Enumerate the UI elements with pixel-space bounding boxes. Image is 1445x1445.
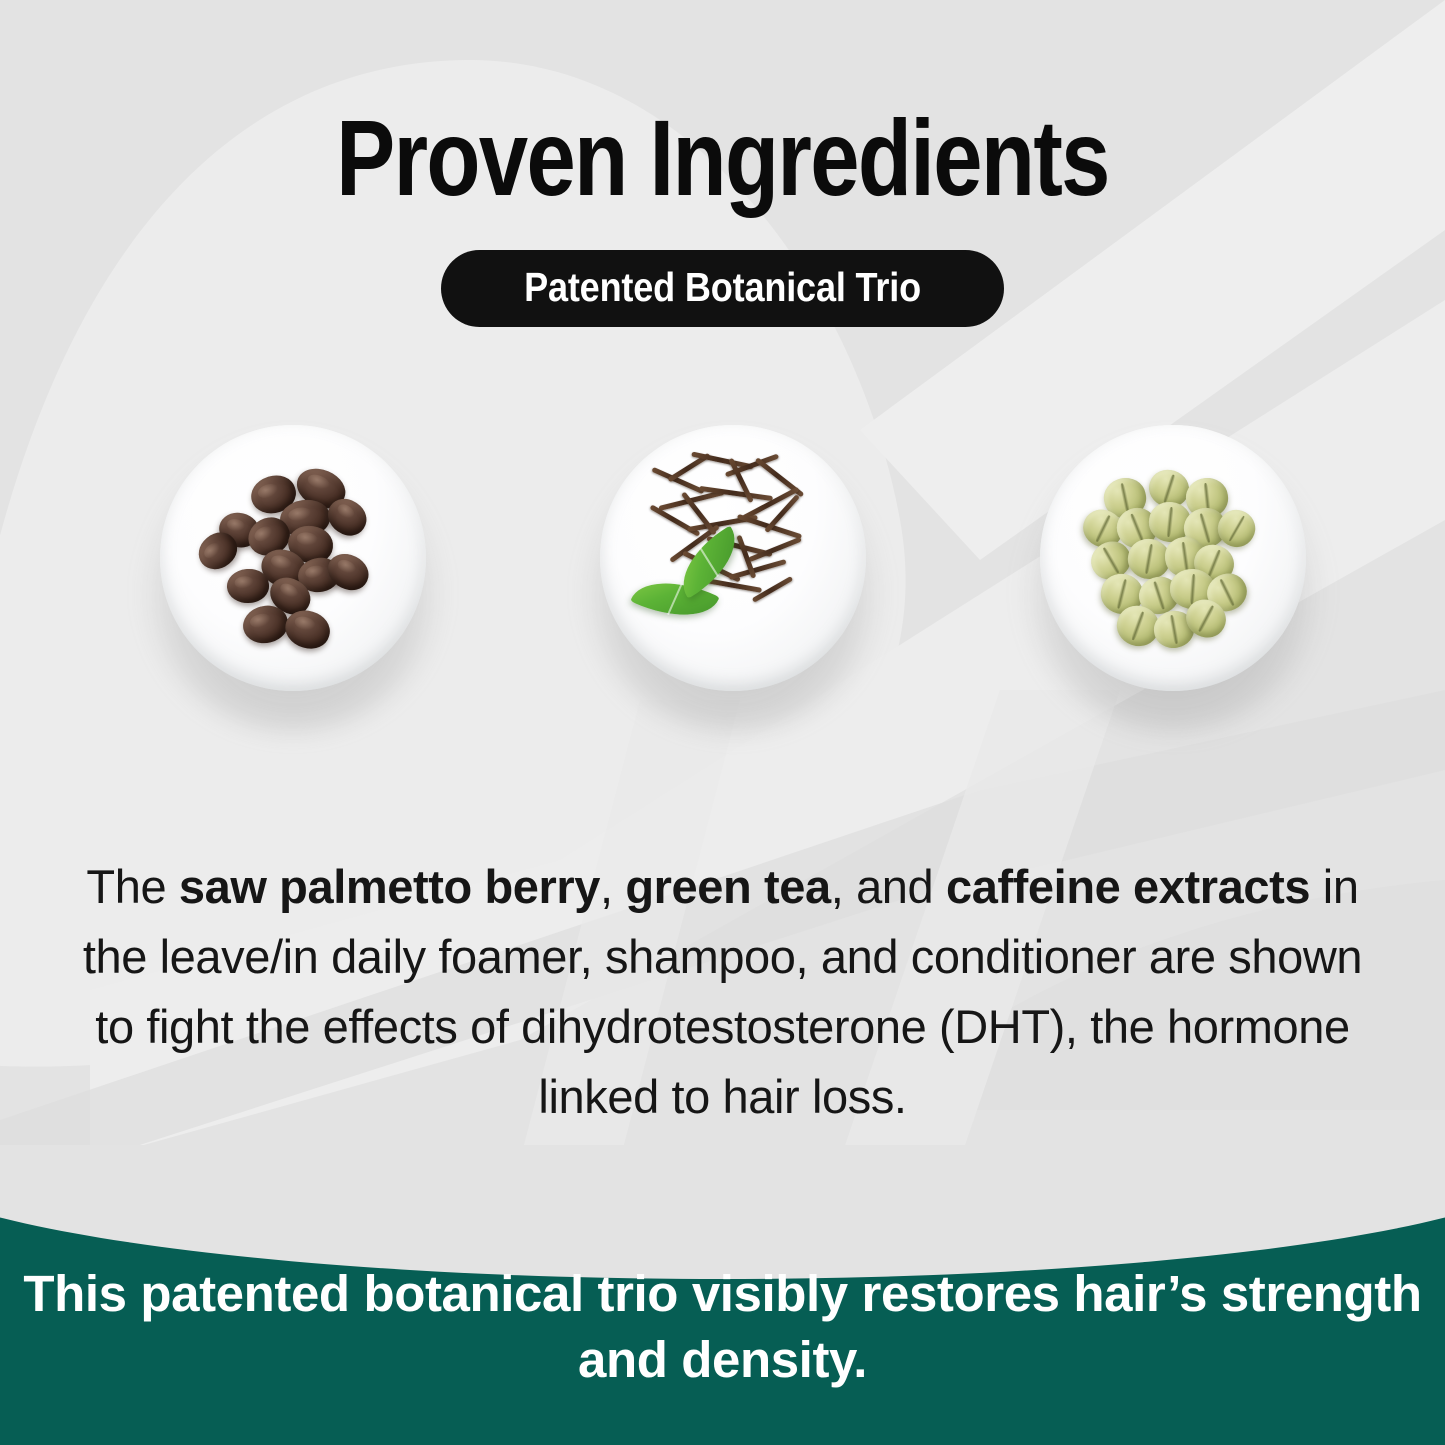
petri-dish-green-tea bbox=[577, 402, 889, 714]
petri-dish-saw-palmetto-berry bbox=[137, 402, 449, 714]
body-paragraph: The saw palmetto berry, green tea, and c… bbox=[72, 852, 1373, 1132]
infographic-canvas: Proven Ingredients Patented Botanical Tr… bbox=[0, 0, 1445, 1445]
green-tea-specimen bbox=[600, 425, 865, 690]
footer-headline: This patented botanical trio visibly res… bbox=[0, 1261, 1445, 1393]
body-segment-5: caffeine extracts bbox=[946, 860, 1310, 913]
dish-well bbox=[1040, 425, 1305, 690]
dish-well bbox=[160, 425, 425, 690]
footer-curved-edge bbox=[0, 1145, 1445, 1279]
ingredient-dishes-row bbox=[0, 402, 1445, 732]
dish-well bbox=[600, 425, 865, 690]
body-segment-3: green tea bbox=[625, 860, 830, 913]
badge-container: Patented Botanical Trio bbox=[0, 250, 1445, 327]
saw-palmetto-berry-specimen bbox=[160, 425, 425, 690]
green-coffee-bean-specimen bbox=[1040, 425, 1305, 690]
body-segment-2: , bbox=[600, 860, 625, 913]
petri-dish-caffeine-green-coffee-bean bbox=[1017, 402, 1329, 714]
page-title: Proven Ingredients bbox=[130, 0, 1315, 212]
body-segment-0: The bbox=[86, 860, 178, 913]
footer-banner: This patented botanical trio visibly res… bbox=[0, 1145, 1445, 1445]
badge-label: Patented Botanical Trio bbox=[524, 267, 921, 308]
header: Proven Ingredients bbox=[0, 0, 1445, 212]
body-segment-1: saw palmetto berry bbox=[179, 860, 600, 913]
body-segment-4: , and bbox=[831, 860, 946, 913]
patented-botanical-trio-badge: Patented Botanical Trio bbox=[441, 250, 1004, 327]
